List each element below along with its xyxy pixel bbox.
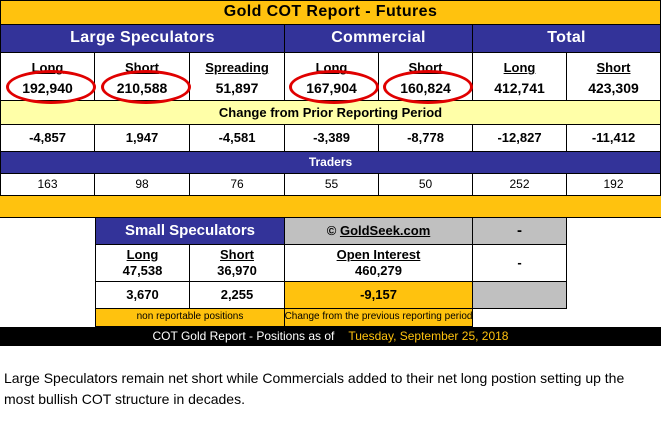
value-total-short: 423,309 (567, 76, 661, 101)
traders-comm-short: 50 (379, 174, 473, 196)
open-interest-cell: Open Interest 460,279 (285, 245, 473, 282)
group-header-commercial: Commercial (285, 25, 473, 53)
traders-ls-long: 163 (0, 174, 95, 196)
value-ls-short: 210,588 (95, 76, 190, 101)
small-speculators-label: Small Speculators (95, 218, 285, 245)
small-spec-values-row: Long 47,538 Short 36,970 Open Interest 4… (0, 245, 661, 282)
value-ls-long: 192,940 (0, 76, 95, 101)
small-spec-short-cell: Short 36,970 (190, 245, 285, 282)
report-footer-bar: COT Gold Report - Positions as of Tuesda… (0, 327, 661, 346)
group-header-large-speculators: Large Speculators (0, 25, 285, 53)
small-spec-long-cell: Long 47,538 (95, 245, 190, 282)
footer-bar-date: Tuesday, September 25, 2018 (348, 330, 508, 343)
change-comm-long: -3,389 (285, 125, 379, 152)
open-interest-value: 460,279 (355, 263, 402, 279)
column-header-total-short: Short (567, 53, 661, 76)
change-total-long: -12,827 (473, 125, 567, 152)
change-ls-long: -4,857 (0, 125, 95, 152)
gold-band (0, 196, 661, 218)
traders-label: Traders (0, 152, 661, 174)
group-header-row: Large Speculators Commercial Total (0, 25, 661, 53)
small-spec-long-label: Long (127, 247, 159, 263)
small-spec-short-label: Short (220, 247, 254, 263)
small-spec-long-value: 47,538 (123, 263, 163, 279)
spacer-right-4 (473, 309, 661, 327)
column-header-comm-short: Short (379, 53, 473, 76)
traders-ls-spreading: 76 (190, 174, 285, 196)
group-header-total: Total (473, 25, 661, 53)
cot-report-table: Gold COT Report - Futures Large Speculat… (0, 0, 661, 358)
report-title-row: Gold COT Report - Futures (0, 0, 661, 25)
change-ls-short: 1,947 (95, 125, 190, 152)
change-total-short: -11,412 (567, 125, 661, 152)
traders-values-row: 163 98 76 55 50 252 192 (0, 174, 661, 196)
spacer-left-2 (0, 245, 95, 282)
footer-bar-label: COT Gold Report - Positions as of (153, 330, 335, 343)
copyright-icon: © (327, 224, 337, 238)
spacer-right-3 (567, 282, 661, 309)
value-comm-short: 160,824 (379, 76, 473, 101)
change-from-prior-label: Change from Prior Reporting Period (0, 101, 661, 125)
report-footnote: Large Speculators remain net short while… (0, 358, 661, 410)
gold-separator-band (0, 196, 661, 218)
change-ls-spreading: -4,581 (190, 125, 285, 152)
column-header-ls-short: Short (95, 53, 190, 76)
dash-cell-mid: - (473, 245, 567, 282)
spacer-right-1 (567, 218, 661, 245)
change-label-row: Change from Prior Reporting Period (0, 101, 661, 125)
small-spec-short-value: 36,970 (217, 263, 257, 279)
spacer-right-2 (567, 245, 661, 282)
column-header-ls-spreading: Spreading (190, 53, 285, 76)
value-total-long: 412,741 (473, 76, 567, 101)
traders-comm-long: 55 (285, 174, 379, 196)
value-ls-spreading: 51,897 (190, 76, 285, 101)
note-non-reportable: non reportable positions (95, 309, 285, 327)
change-values-row: -4,857 1,947 -4,581 -3,389 -8,778 -12,82… (0, 125, 661, 152)
goldseek-link[interactable]: GoldSeek.com (340, 224, 430, 238)
traders-ls-short: 98 (95, 174, 190, 196)
spacer-left-3 (0, 282, 95, 309)
column-header-row: Long Short Spreading Long Short Long Sho… (0, 53, 661, 76)
open-interest-label: Open Interest (337, 247, 421, 263)
small-spec-short-change: 2,255 (190, 282, 285, 309)
column-header-comm-long: Long (285, 53, 379, 76)
traders-label-row: Traders (0, 152, 661, 174)
spacer-left-1 (0, 218, 95, 245)
dash-cell-top: - (473, 218, 567, 245)
open-interest-change: -9,157 (285, 282, 473, 309)
footer-bar-content: COT Gold Report - Positions as of Tuesda… (0, 327, 661, 346)
small-spec-header-row: Small Speculators © GoldSeek.com - (0, 218, 661, 245)
traders-total-short: 192 (567, 174, 661, 196)
page-title: Gold COT Report - Futures (0, 0, 661, 25)
goldseek-credit: © GoldSeek.com (285, 218, 473, 245)
small-speculators-block: Small Speculators © GoldSeek.com - Long … (0, 218, 661, 327)
column-header-ls-long: Long (0, 53, 95, 76)
column-header-total-long: Long (473, 53, 567, 76)
note-change-previous: Change from the previous reporting perio… (285, 309, 473, 327)
traders-total-long: 252 (473, 174, 567, 196)
positions-row: 192,940 210,588 51,897 167,904 160,824 4… (0, 76, 661, 101)
small-spec-note-row: non reportable positions Change from the… (0, 309, 661, 327)
value-comm-long: 167,904 (285, 76, 379, 101)
dash-cell-bottom (473, 282, 567, 309)
small-spec-change-row: 3,670 2,255 -9,157 (0, 282, 661, 309)
small-spec-long-change: 3,670 (95, 282, 190, 309)
change-comm-short: -8,778 (379, 125, 473, 152)
spacer-left-4 (0, 309, 95, 327)
